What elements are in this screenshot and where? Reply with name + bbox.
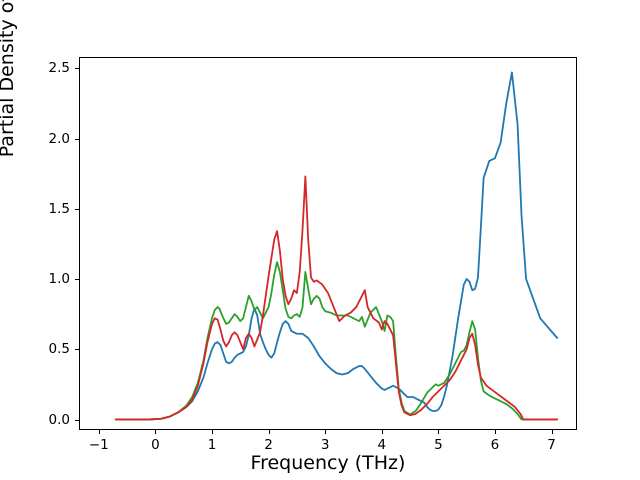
x-tick-label: 4 bbox=[378, 437, 387, 453]
y-tick-mark bbox=[75, 279, 79, 280]
y-tick-label: 2.0 bbox=[10, 131, 70, 147]
x-tick-mark bbox=[212, 430, 213, 434]
y-tick-mark bbox=[75, 420, 79, 421]
x-tick-mark bbox=[382, 430, 383, 434]
x-tick-mark bbox=[325, 430, 326, 434]
x-tick-mark bbox=[99, 430, 100, 434]
plot-area bbox=[79, 57, 577, 430]
x-tick-mark bbox=[269, 430, 270, 434]
y-tick-mark bbox=[75, 68, 79, 69]
x-tick-label: 3 bbox=[321, 437, 330, 453]
x-tick-label: 2 bbox=[264, 437, 273, 453]
y-tick-label: 2.5 bbox=[10, 60, 70, 76]
y-tick-mark bbox=[75, 139, 79, 140]
x-tick-label: −1 bbox=[89, 437, 109, 453]
y-tick-label: 1.0 bbox=[10, 271, 70, 287]
chart-figure: Partial Density of States Frequency (THz… bbox=[0, 0, 640, 480]
x-axis-label: Frequency (THz) bbox=[79, 452, 577, 474]
x-tick-label: 0 bbox=[151, 437, 160, 453]
x-tick-label: 6 bbox=[491, 437, 500, 453]
y-tick-mark bbox=[75, 209, 79, 210]
x-tick-mark bbox=[438, 430, 439, 434]
x-tick-mark bbox=[495, 430, 496, 434]
x-tick-label: 5 bbox=[434, 437, 443, 453]
y-tick-mark bbox=[75, 349, 79, 350]
y-tick-label: 1.5 bbox=[10, 201, 70, 217]
x-tick-label: 7 bbox=[547, 437, 556, 453]
y-tick-label: 0.5 bbox=[10, 341, 70, 357]
x-tick-mark bbox=[155, 430, 156, 434]
y-tick-label: 0.0 bbox=[10, 412, 70, 428]
x-tick-mark bbox=[552, 430, 553, 434]
x-tick-label: 1 bbox=[208, 437, 217, 453]
